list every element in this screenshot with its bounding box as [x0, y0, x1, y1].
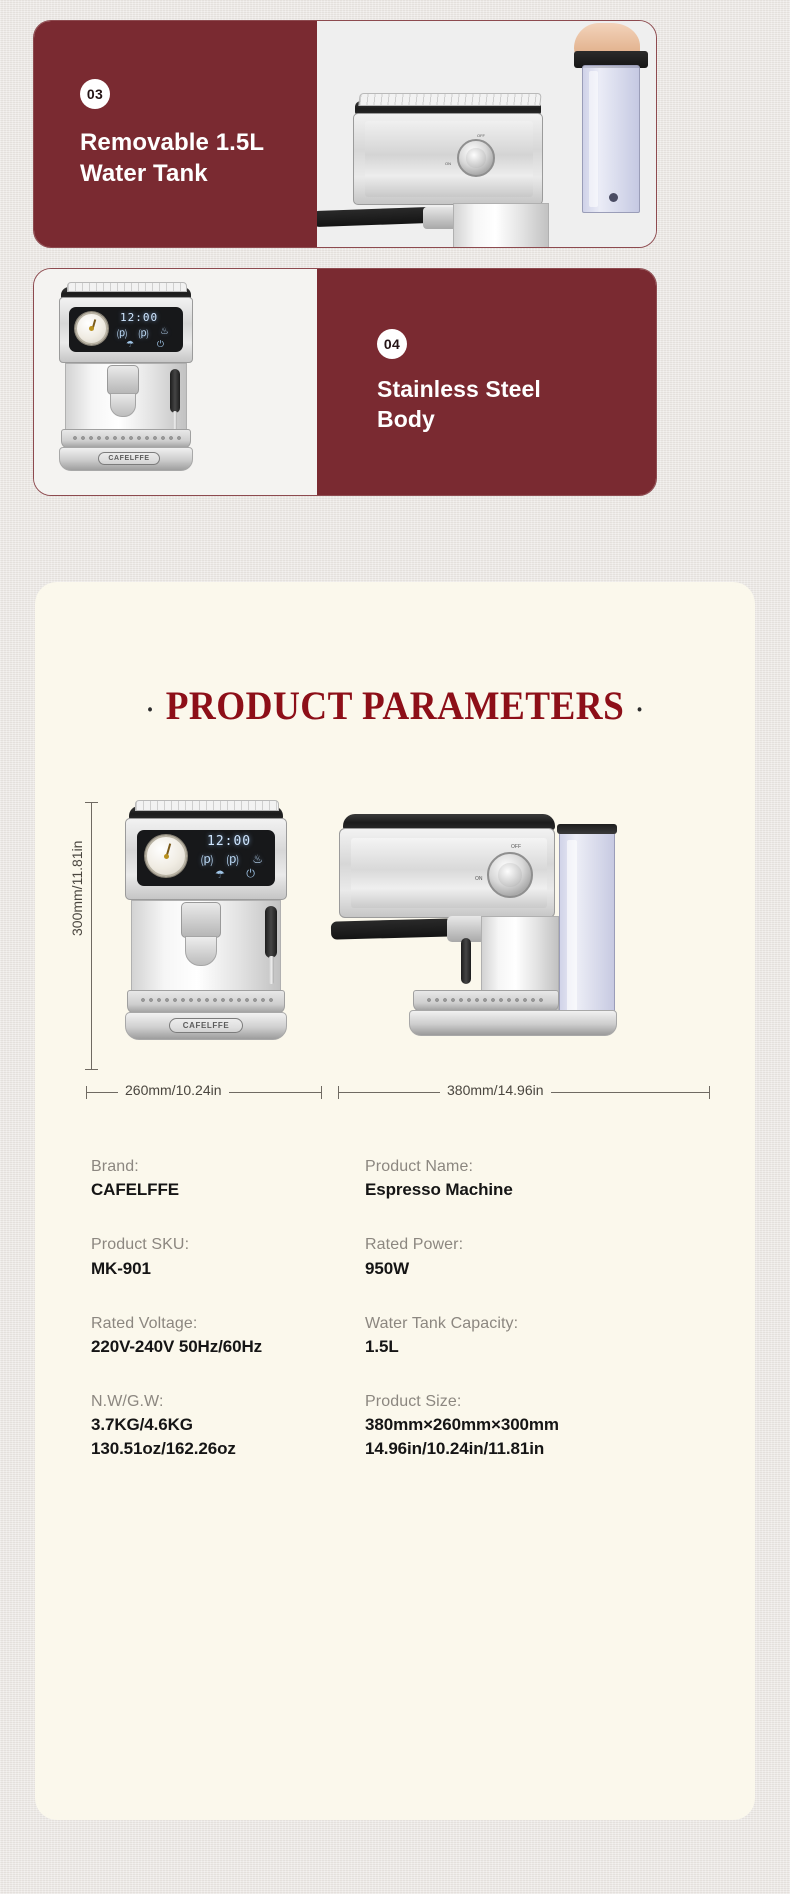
- water-tank-valve: [609, 193, 618, 202]
- specification-table: Brand: CAFELFFE Product Name: Espresso M…: [91, 1155, 701, 1461]
- power-icon[interactable]: ⏻: [246, 868, 255, 881]
- spec-value: 1.5L: [365, 1335, 701, 1359]
- dimension-label-height: 300mm/11.81in: [69, 841, 85, 936]
- drip-tray-holes: [425, 996, 547, 1005]
- double-cup-icon[interactable]: ⒫: [227, 852, 239, 869]
- feature-03-number-badge: 03: [80, 79, 110, 109]
- spec-label: Product Name:: [365, 1155, 701, 1178]
- feature-04-photo: 12:00 ⒫ ⒫ ♨ ☂ ⏻ CAFELFFE: [34, 269, 317, 495]
- water-tank-highlight: [567, 840, 577, 1016]
- spec-item-brand: Brand: CAFELFFE: [91, 1155, 365, 1202]
- spec-item-weight: N.W/G.W: 3.7KG/4.6KG 130.51oz/162.26oz: [91, 1390, 365, 1461]
- spec-item-product-name: Product Name: Espresso Machine: [365, 1155, 701, 1202]
- dimension-line-height: [91, 802, 92, 1070]
- spec-value: 3.7KG/4.6KG 130.51oz/162.26oz: [91, 1413, 365, 1461]
- control-knob[interactable]: [487, 852, 533, 898]
- spec-label: Product SKU:: [91, 1233, 365, 1256]
- feature-03-text-panel: 03 Removable 1.5L Water Tank: [34, 21, 317, 247]
- control-knob[interactable]: [457, 139, 495, 177]
- water-drop-icon[interactable]: ☂: [215, 868, 225, 881]
- display-mode-icons: ⒫ ⒫ ♨: [201, 852, 263, 869]
- spec-item-product-size: Product Size: 380mm×260mm×300mm 14.96in/…: [365, 1390, 701, 1461]
- dimension-label-width-side: 380mm/14.96in: [440, 1082, 551, 1098]
- dimension-label-width-front: 260mm/10.24in: [118, 1082, 229, 1098]
- control-knob-inner: [466, 148, 485, 167]
- knob-label-on: ON: [445, 161, 451, 166]
- spec-item-rated-power: Rated Power: 950W: [365, 1233, 701, 1280]
- spec-value: 220V-240V 50Hz/60Hz: [91, 1335, 365, 1359]
- display-button-row: ☂ ⏻: [215, 868, 255, 881]
- feature-card-03: 03 Removable 1.5L Water Tank OFF ON: [33, 20, 657, 248]
- feature-03-title-line2: Water Tank: [80, 160, 208, 187]
- product-parameters-panel: ·PRODUCT PARAMETERS· 300mm/11.81in 12:00…: [35, 582, 755, 1820]
- group-head: [423, 207, 457, 229]
- knob-label-on: ON: [475, 876, 483, 882]
- feature-04-title: Stainless Steel Body: [377, 375, 596, 435]
- pressure-gauge: [75, 312, 108, 345]
- knob-label-off: OFF: [477, 133, 485, 138]
- drip-tray-holes: [139, 996, 273, 1005]
- spec-value: 380mm×260mm×300mm 14.96in/10.24in/11.81i…: [365, 1413, 701, 1461]
- machine-body-column: [453, 203, 549, 247]
- feature-03-title: Removable 1.5L Water Tank: [80, 127, 271, 189]
- spec-value: MK-901: [91, 1257, 365, 1281]
- spec-label: Product Size:: [365, 1390, 701, 1413]
- steam-wand: [265, 906, 277, 958]
- steam-icon[interactable]: ♨: [252, 852, 263, 869]
- gauge-hub: [89, 326, 94, 331]
- display-time: 12:00: [120, 311, 158, 324]
- feature-card-04: 12:00 ⒫ ⒫ ♨ ☂ ⏻ CAFELFFE 04 Stainless St…: [33, 268, 657, 496]
- knob-label-off: OFF: [511, 844, 521, 850]
- spec-item-water-tank-capacity: Water Tank Capacity: 1.5L: [365, 1312, 701, 1359]
- pressure-gauge: [145, 835, 187, 877]
- spec-label: Water Tank Capacity:: [365, 1312, 701, 1335]
- spec-label: N.W/G.W:: [91, 1390, 365, 1413]
- water-tank-highlight: [589, 71, 598, 207]
- spec-label: Rated Power:: [365, 1233, 701, 1256]
- machine-front-view: 12:00 ⒫ ⒫ ♨ ☂ ⏻ CAFELFFE: [119, 794, 319, 1074]
- steam-wand-tip: [269, 956, 274, 984]
- steam-wand: [170, 369, 180, 413]
- cup-warming-tray: [358, 93, 541, 106]
- machine-side-view: OFF ON: [335, 794, 635, 1074]
- page-title-text: PRODUCT PARAMETERS: [166, 683, 625, 728]
- display-time: 12:00: [207, 834, 251, 849]
- heading-dot-left: ·: [135, 695, 166, 724]
- machine-base-side: [409, 1010, 617, 1036]
- drip-tray-holes: [71, 434, 181, 442]
- group-head: [181, 902, 221, 938]
- feature-03-photo: OFF ON: [317, 21, 656, 247]
- spec-value: Espresso Machine: [365, 1178, 701, 1202]
- feature-04-text-panel: 04 Stainless Steel Body: [317, 269, 656, 495]
- feature-03-title-line1: Removable 1.5L: [80, 129, 264, 156]
- water-drop-icon[interactable]: ☂: [126, 339, 134, 350]
- brand-mark: CAFELFFE: [169, 1018, 243, 1033]
- spec-value: CAFELFFE: [91, 1178, 365, 1202]
- page-title: ·PRODUCT PARAMETERS·: [60, 682, 730, 729]
- water-tank-lid: [557, 824, 617, 834]
- spec-label: Rated Voltage:: [91, 1312, 365, 1335]
- display-button-row: ☂ ⏻: [126, 339, 164, 350]
- heading-dot-right: ·: [624, 695, 655, 724]
- portafilter-cup: [110, 393, 136, 417]
- cup-warming-tray: [67, 282, 187, 292]
- portafilter-handle: [317, 207, 431, 227]
- spec-label: Brand:: [91, 1155, 365, 1178]
- steam-wand: [461, 938, 471, 984]
- spec-item-sku: Product SKU: MK-901: [91, 1233, 365, 1280]
- spec-value: 950W: [365, 1257, 701, 1281]
- cup-warming-tray: [135, 800, 279, 811]
- brand-mark: CAFELFFE: [98, 452, 160, 465]
- group-head: [107, 365, 139, 395]
- portafilter-handle: [331, 918, 455, 939]
- control-knob-inner: [498, 863, 522, 887]
- power-icon[interactable]: ⏻: [157, 339, 164, 350]
- feature-04-number-badge: 04: [377, 329, 407, 359]
- portafilter-cup: [185, 936, 217, 966]
- spec-item-rated-voltage: Rated Voltage: 220V-240V 50Hz/60Hz: [91, 1312, 365, 1359]
- single-cup-icon[interactable]: ⒫: [201, 852, 213, 869]
- machine-head-face: [365, 121, 533, 197]
- gauge-hub: [164, 854, 169, 859]
